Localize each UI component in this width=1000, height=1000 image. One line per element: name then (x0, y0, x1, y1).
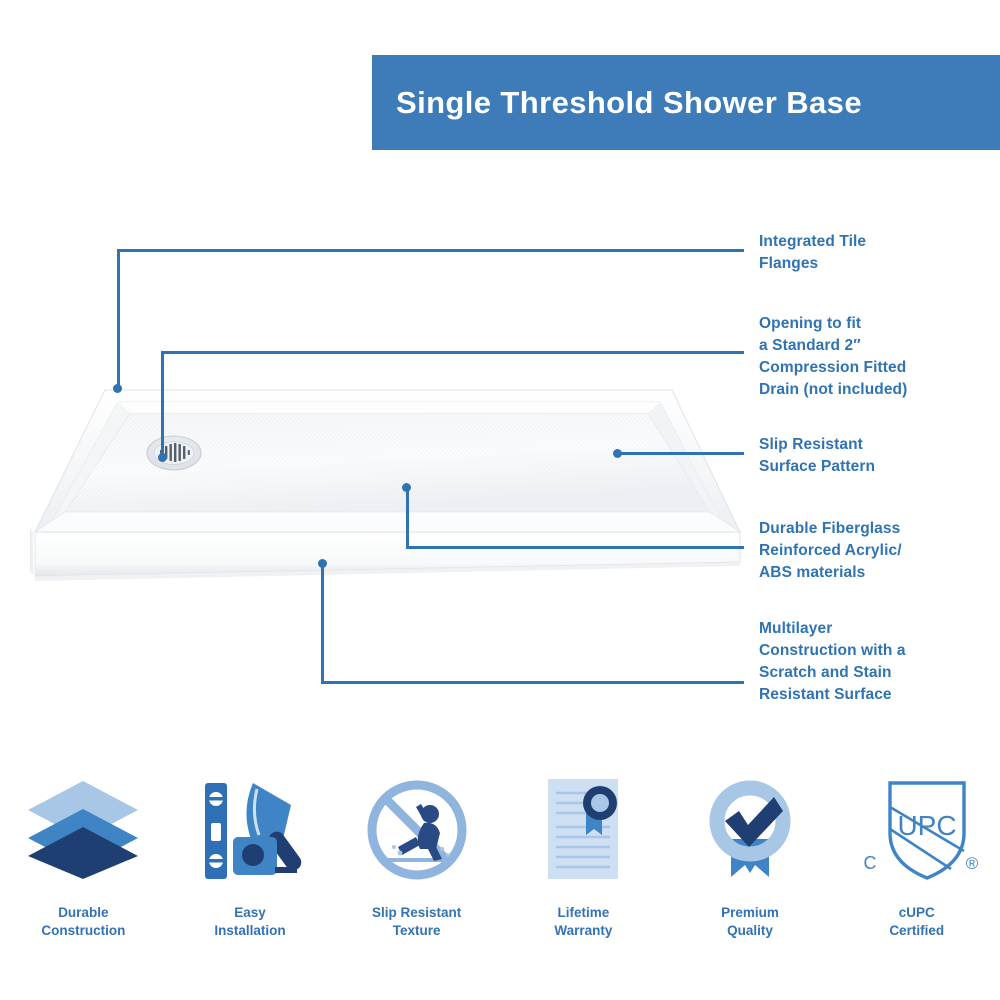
stacked-layers-icon (24, 770, 142, 890)
feature-label-cupc-certified: cUPC Certified (889, 904, 944, 940)
feature-label-durable-construction: Durable Construction (41, 904, 125, 940)
callout-drain-opening: Opening to fit a Standard 2″ Compression… (759, 313, 994, 401)
cupc-left-mark: C (863, 853, 876, 873)
callout-durable-materials: Durable Fiberglass Reinforced Acrylic/ A… (759, 518, 994, 584)
feature-cupc-certified: UPC C ® cUPC Certified (833, 770, 1000, 970)
leader-dot-materials (402, 483, 411, 492)
leader-line-materials-horizontal (406, 546, 744, 549)
leader-dot-tile-flanges (113, 384, 122, 393)
feature-label-slip-resistant-texture: Slip Resistant Texture (372, 904, 461, 940)
leader-line-slip-resistant (617, 452, 744, 455)
feature-label-easy-installation: Easy Installation (214, 904, 285, 940)
feature-easy-installation: Easy Installation (167, 770, 334, 970)
feature-premium-quality: Premium Quality (667, 770, 834, 970)
check-rosette-icon (691, 770, 809, 890)
cupc-registered-mark: ® (965, 854, 978, 873)
callout-multilayer-construction: Multilayer Construction with a Scratch a… (759, 618, 994, 706)
infographic-page: Single Threshold Shower Base (0, 0, 1000, 1000)
feature-durable-construction: Durable Construction (0, 770, 167, 970)
leader-line-tile-flanges-horizontal (117, 249, 744, 252)
leader-line-materials-vertical (406, 487, 409, 548)
leader-line-multilayer-horizontal (321, 681, 744, 684)
title-banner: Single Threshold Shower Base (372, 55, 1000, 150)
upc-shield-icon: UPC C ® (854, 770, 980, 890)
level-trowel-tape-icon (191, 770, 309, 890)
certificate-rosette-icon (524, 770, 642, 890)
feature-label-lifetime-warranty: Lifetime Warranty (554, 904, 612, 940)
leader-line-tile-flanges-vertical (117, 249, 120, 389)
leader-dot-drain (158, 453, 167, 462)
upc-shield-text: UPC (897, 810, 956, 841)
no-slip-icon (358, 770, 476, 890)
leader-dot-multilayer (318, 559, 327, 568)
callout-integrated-tile-flanges: Integrated Tile Flanges (759, 231, 989, 275)
feature-label-premium-quality: Premium Quality (721, 904, 779, 940)
leader-line-drain-horizontal (161, 351, 744, 354)
feature-lifetime-warranty: Lifetime Warranty (500, 770, 667, 970)
feature-badges-row: Durable Construction (0, 770, 1000, 970)
leader-dot-slip-resistant (613, 449, 622, 458)
leader-line-drain-vertical (161, 351, 164, 461)
page-title: Single Threshold Shower Base (396, 85, 862, 121)
leader-line-multilayer-vertical (321, 566, 324, 683)
feature-slip-resistant-texture: Slip Resistant Texture (333, 770, 500, 970)
callout-slip-resistant-surface: Slip Resistant Surface Pattern (759, 434, 989, 478)
